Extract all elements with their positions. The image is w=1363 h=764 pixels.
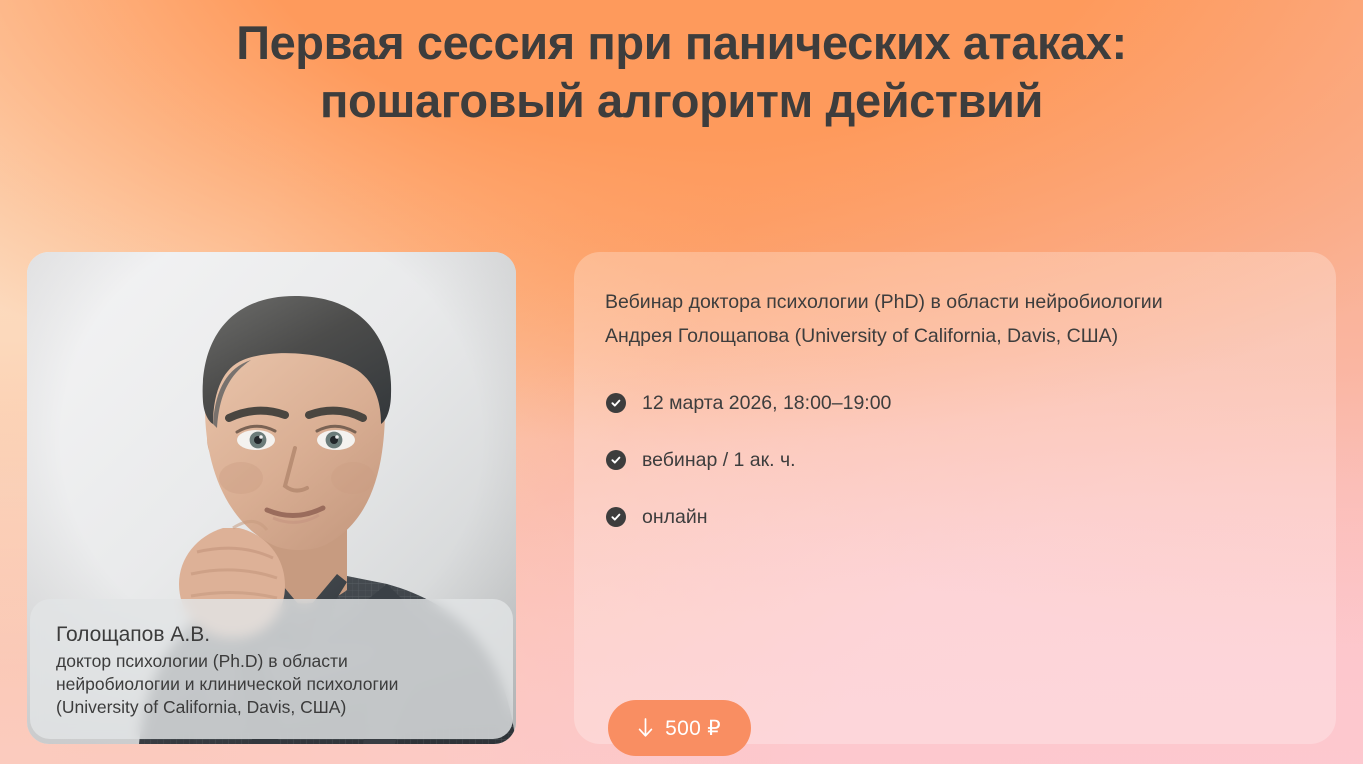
webinar-format: вебинар / 1 ак. ч. — [642, 447, 796, 473]
webinar-details-list: 12 марта 2026, 18:00–19:00 вебинар / 1 а… — [606, 378, 891, 549]
speaker-role: доктор психологии (Ph.D) в области нейро… — [56, 650, 487, 719]
list-item: 12 марта 2026, 18:00–19:00 — [606, 378, 891, 428]
check-circle-icon — [606, 507, 626, 527]
list-item: вебинар / 1 ак. ч. — [606, 435, 891, 485]
speaker-photo-card: Голощапов А.В. доктор психологии (Ph.D) … — [27, 252, 516, 744]
check-circle-icon — [606, 450, 626, 470]
speaker-name: Голощапов А.В. — [56, 621, 487, 648]
webinar-datetime: 12 марта 2026, 18:00–19:00 — [642, 390, 891, 416]
speaker-caption: Голощапов А.В. доктор психологии (Ph.D) … — [30, 599, 513, 739]
page-title: Первая сессия при панических атаках: пош… — [0, 14, 1363, 130]
webinar-promo-page: Первая сессия при панических атаках: пош… — [0, 0, 1363, 764]
price-label: 500 ₽ — [665, 718, 721, 739]
list-item: онлайн — [606, 492, 891, 542]
price-button[interactable]: 500 ₽ — [608, 700, 751, 756]
check-circle-icon — [606, 393, 626, 413]
webinar-description: Вебинар доктора психологии (PhD) в облас… — [605, 285, 1308, 353]
webinar-info-card: Вебинар доктора психологии (PhD) в облас… — [574, 252, 1336, 744]
webinar-location: онлайн — [642, 504, 708, 530]
arrow-down-icon — [638, 718, 653, 738]
